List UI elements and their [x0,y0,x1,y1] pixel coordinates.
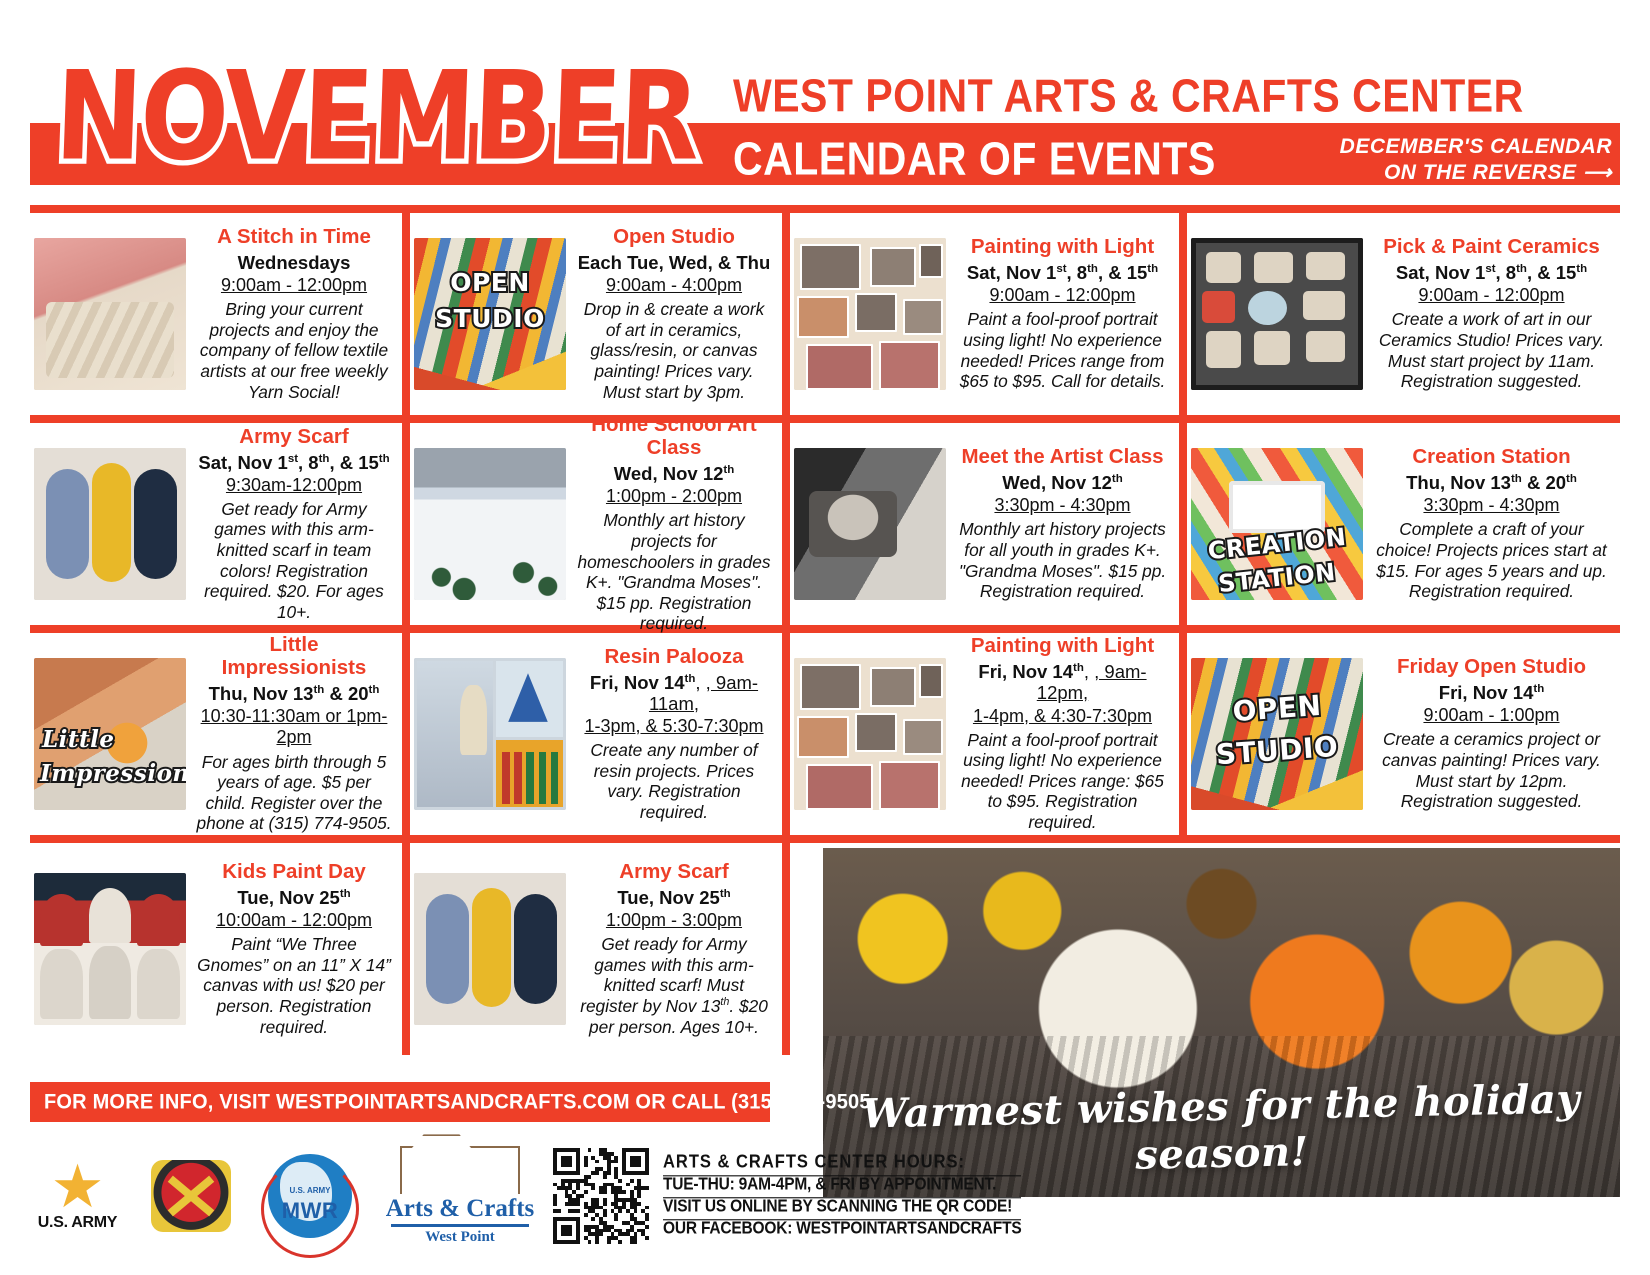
center-hours-block: ARTS & CRAFTS CENTER HOURS: TUE-THU: 9AM… [663,1152,1021,1240]
event-title: Open Studio [576,226,772,249]
little-impressionist-photo: Little Impressionist [34,658,186,810]
event-title: Home School Art Class [576,414,772,460]
event-card-army-scarf-nov1[interactable]: Army Scarf Sat, Nov 1st, 8th, & 15th 9:3… [30,423,402,625]
event-time: 1:00pm - 3:00pm [606,910,742,930]
event-time: 10:00am - 12:00pm [216,910,372,930]
knitting-photo [34,238,186,390]
event-date: Tue, Nov 25th [196,887,392,908]
grid-divider [1179,423,1187,625]
event-card-kids-paint-day[interactable]: Kids Paint Day Tue, Nov 25th 10:00am - 1… [30,843,402,1055]
event-date: Sat, Nov 1st, 8th, & 15th [956,262,1169,283]
month-title: NOVEMBER [53,44,700,188]
event-time: 9:00am - 1:00pm [1423,705,1559,725]
event-description: For ages birth through 5 years of age. $… [196,752,392,834]
open-studio-overlay-line1: OPEN [414,268,566,297]
little-impressionist-overlay-line2: Impressionist [34,760,186,787]
event-title: Creation Station [1373,446,1610,469]
event-date: Wednesdays [196,252,392,273]
grid-divider [1179,633,1187,835]
event-description: Paint a fool-proof portrait using light!… [956,309,1169,391]
event-time: 1-4pm, & 4:30-7:30pm [973,706,1152,726]
event-title: Kids Paint Day [196,861,392,884]
event-card-creation-station[interactable]: CREATION STATION Creation Station Thu, N… [1187,423,1620,625]
event-description: Get ready for Army games with this arm-k… [576,934,772,1037]
grid-divider [1179,213,1187,415]
poster-header: NOVEMBER WEST POINT ARTS & CRAFTS CENTER… [0,0,1650,200]
event-description: Bring your current projects and enjoy th… [196,299,392,402]
grid-divider [30,835,1620,843]
logo-rule [391,1224,529,1227]
open-studio-photo: OPEN STUDIO [1191,658,1363,810]
event-card-resin-palooza[interactable]: Resin Palooza Fri, Nov 14th, , 9am-11am,… [410,633,782,835]
event-time: 1:00pm - 2:00pm [606,486,742,506]
pumpkins-and-nuts-photo: Warmest wishes for the holiday season! [823,848,1620,1197]
event-date: Thu, Nov 13th & 20th [1373,472,1610,493]
event-title: Pick & Paint Ceramics [1373,236,1610,259]
event-card-painting-with-light[interactable]: Painting with Light Sat, Nov 1st, 8th, &… [790,213,1179,415]
reverse-note-line2: ON THE REVERSE ⟶ [1340,160,1612,186]
event-date: Wed, Nov 12th [956,472,1169,493]
west-point-label: West Point [385,1229,535,1246]
grid-divider [402,423,410,625]
grid-divider [402,843,410,1055]
crest-icon [151,1160,231,1232]
grid-divider [402,633,410,835]
event-title: Painting with Light [956,635,1169,658]
grid-divider [30,625,1620,633]
arrow-right-icon: ⟶ [1583,162,1612,184]
more-info-bar[interactable]: FOR MORE INFO, VISIT WESTPOINTARTSANDCRA… [30,1082,770,1122]
grid-divider [30,415,1620,423]
calendar-poster: NOVEMBER WEST POINT ARTS & CRAFTS CENTER… [0,0,1650,1275]
event-date: Fri, Nov 14th [1373,682,1610,703]
creation-station-photo: CREATION STATION [1191,448,1363,600]
event-time: 10:30-11:30am or 1pm-2pm [201,706,388,747]
event-row: Army Scarf Sat, Nov 1st, 8th, & 15th 9:3… [30,423,1620,625]
event-description: Drop in & create a work of art in cerami… [576,299,772,402]
grid-divider [30,205,1620,213]
qr-code[interactable] [553,1148,649,1244]
hours-heading: ARTS & CRAFTS CENTER HOURS: [663,1151,1021,1177]
event-description: Paint a fool-proof portrait using light!… [956,730,1169,833]
event-date: Thu, Nov 13th & 20th [196,683,392,704]
event-card-friday-open-studio[interactable]: OPEN STUDIO Friday Open Studio Fri, Nov … [1187,633,1620,835]
event-time: 3:30pm - 4:30pm [994,495,1130,515]
resin-art-photo [414,658,566,810]
event-title: Army Scarf [196,426,392,449]
event-date: Wed, Nov 12th [576,463,772,484]
event-card-a-stitch-in-time[interactable]: A Stitch in Time Wednesdays 9:00am - 12:… [30,213,402,415]
arts-crafts-label: Arts & Crafts [385,1196,535,1222]
open-studio-overlay-line2: STUDIO [414,304,566,333]
event-description: Monthly art history projects for homesch… [576,510,772,633]
grid-divider [782,843,790,1055]
calendar-subtitle: CALENDAR OF EVENTS [733,133,1216,186]
event-description: Monthly art history projects for all you… [956,519,1169,601]
event-time: 3:30pm - 4:30pm [1423,495,1559,515]
arts-and-crafts-west-point-logo: Arts & Crafts West Point [385,1146,535,1245]
event-card-little-impressionists[interactable]: Little Impressionist Little Impressionis… [30,633,402,835]
portrait-wall-photo [794,658,946,810]
event-date: Each Tue, Wed, & Thu [576,252,772,273]
more-info-text: FOR MORE INFO, VISIT WESTPOINTARTSANDCRA… [30,1090,876,1114]
event-card-pick-and-paint-ceramics[interactable]: Pick & Paint Ceramics Sat, Nov 1st, 8th,… [1187,213,1620,415]
ceramics-tray-photo [1191,238,1363,390]
event-row: A Stitch in Time Wednesdays 9:00am - 12:… [30,213,1620,415]
event-description: Create a work of art in our Ceramics Stu… [1373,309,1610,391]
event-title: A Stitch in Time [196,226,392,249]
reverse-note-line1: DECEMBER'S CALENDAR [1340,134,1612,160]
reverse-note-line2-text: ON THE REVERSE [1384,161,1577,184]
grid-divider [782,423,790,625]
event-time: 9:30am-12:00pm [226,475,362,495]
event-title: Resin Palooza [576,646,772,669]
star-icon: ★ [30,1160,125,1214]
event-row: Little Impressionist Little Impressionis… [30,633,1620,835]
event-date: Fri, Nov 14th, , 9am-11am, [576,672,772,714]
little-impressionist-overlay-line1: Little [34,726,186,753]
reverse-side-note: DECEMBER'S CALENDAR ON THE REVERSE ⟶ [1340,134,1612,187]
event-title: Friday Open Studio [1373,656,1610,679]
event-time: 9:00am - 12:00pm [1418,285,1564,305]
event-time: 9:00am - 4:00pm [606,275,742,295]
army-garrison-crest-logo [141,1160,241,1232]
event-description: Get ready for Army games with this arm-k… [196,499,392,622]
event-card-army-scarf-nov25[interactable]: Army Scarf Tue, Nov 25th 1:00pm - 3:00pm… [410,843,782,1055]
event-card-open-studio[interactable]: OPEN STUDIO Open Studio Each Tue, Wed, &… [410,213,782,415]
event-date: Sat, Nov 1st, 8th, & 15th [1373,262,1610,283]
portrait-wall-photo [794,238,946,390]
event-card-painting-with-light-nov14[interactable]: Painting with Light Fri, Nov 14th, , 9am… [790,633,1179,835]
hours-line-3: VISIT US ONLINE BY SCANNING THE QR CODE! [663,1196,1021,1221]
event-title: Painting with Light [956,236,1169,259]
gnome-canvas-photo [34,873,186,1025]
grid-divider [782,213,790,415]
center-name: WEST POINT ARTS & CRAFTS CENTER [733,70,1524,123]
mwr-sublabel: U.S. ARMY [255,1186,365,1195]
open-studio-photo: OPEN STUDIO [414,238,566,390]
event-card-home-school-art-class[interactable]: Home School Art Class Wed, Nov 12th 1:00… [410,423,782,625]
event-title: Little Impressionists [196,634,392,680]
event-time: 9:00am - 12:00pm [989,285,1135,305]
us-army-logo: ★ U.S. ARMY [30,1160,125,1232]
event-description: Create a ceramics project or canvas pain… [1373,729,1610,811]
house-icon [400,1146,520,1194]
event-description: Paint “We Three Gnomes” on an 11” X 14” … [196,934,392,1037]
event-description: Complete a craft of your choice! Project… [1373,519,1610,601]
event-date: Sat, Nov 1st, 8th, & 15th [196,452,392,473]
event-date: Fri, Nov 14th, , 9am-12pm, [956,661,1169,703]
event-description: Create any number of resin projects. Pri… [576,740,772,822]
grid-divider [782,633,790,835]
hours-line-4: OUR FACEBOOK: WESTPOINTARTSANDCRAFTS [663,1218,1021,1242]
event-time: 1-3pm, & 5:30-7:30pm [584,716,763,736]
event-title: Meet the Artist Class [956,446,1169,469]
event-card-meet-the-artist-class[interactable]: Meet the Artist Class Wed, Nov 12th 3:30… [790,423,1179,625]
mwr-label: MWR [255,1198,365,1224]
footer-logos-and-hours: ★ U.S. ARMY U.S. ARMY MWR Arts & Crafts … [30,1136,820,1256]
us-army-mwr-logo: U.S. ARMY MWR [255,1154,365,1238]
event-date: Tue, Nov 25th [576,887,772,908]
hours-line-2: TUE-THU: 9AM-4PM, & FRI BY APPOINTMENT. [663,1174,1021,1199]
army-scarf-photo [414,873,566,1025]
army-scarf-photo [34,448,186,600]
grandma-moses-bw-photo [794,448,946,600]
us-army-label: U.S. ARMY [30,1214,125,1232]
event-title: Army Scarf [576,861,772,884]
grid-divider [402,213,410,415]
grandma-moses-painting [414,448,566,600]
event-time: 9:00am - 12:00pm [221,275,367,295]
